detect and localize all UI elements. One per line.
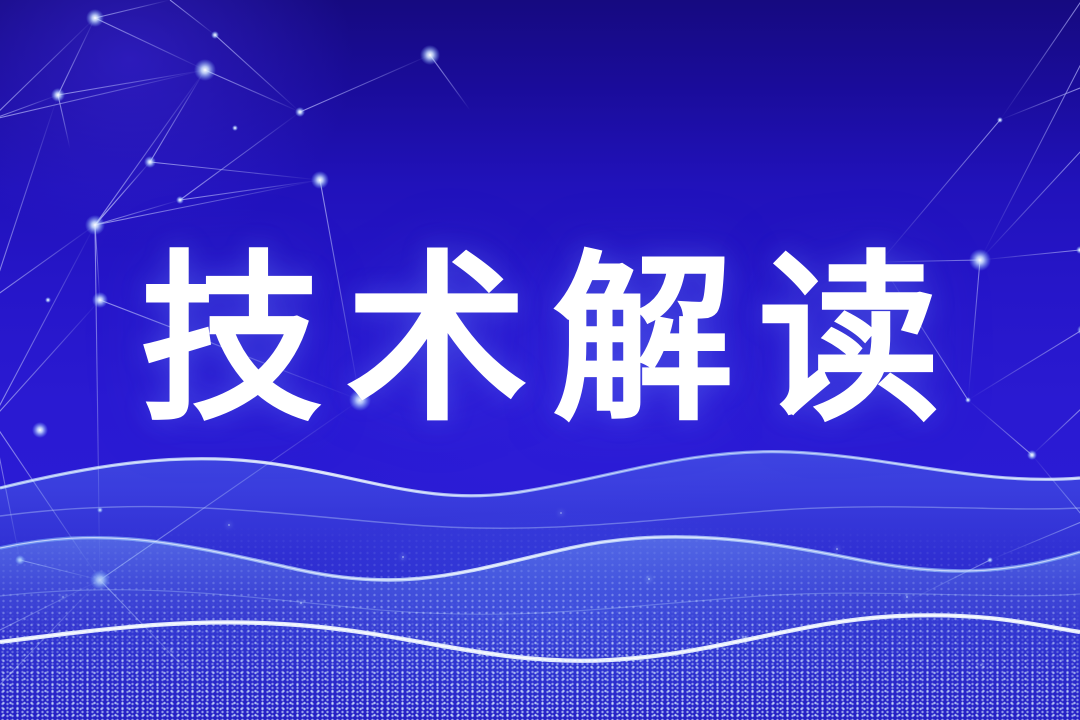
banner-title: 技术解读: [116, 248, 964, 434]
star-speck: [500, 618, 502, 620]
dot-matrix-grid-fine: [0, 570, 1080, 720]
star-speck: [402, 556, 404, 558]
star-speck: [300, 602, 302, 604]
star-speck: [560, 512, 562, 514]
tech-banner: 技术解读: [0, 0, 1080, 720]
star-speck: [906, 596, 908, 598]
star-speck: [62, 596, 64, 598]
glow-bottom: [140, 470, 980, 720]
star-speck: [980, 664, 982, 666]
headline-container: 技术解读: [0, 248, 1080, 434]
star-speck: [836, 548, 838, 550]
star-speck: [742, 636, 744, 638]
particle-wave-field: [0, 420, 1080, 720]
star-speck: [228, 524, 230, 526]
star-speck: [170, 650, 172, 652]
star-speck: [648, 578, 650, 580]
dot-matrix-grid: [0, 490, 1080, 720]
